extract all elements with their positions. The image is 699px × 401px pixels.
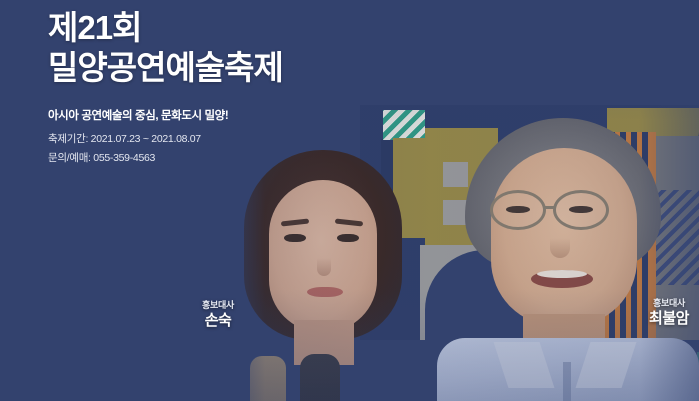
poster-text-block: 제21회 밀양공연예술축제 아시아 공연예술의 중심, 문화도시 밀양! 축제기… [48,8,378,165]
poster-tagline: 아시아 공연예술의 중심, 문화도시 밀양! [48,107,378,123]
portrait-nose [317,246,331,276]
portrait-scarf-fold [250,356,286,401]
ambassador-photo-right [443,118,693,401]
page-title-line-1: 제21회 [48,8,378,48]
green-diagonal-stripes-icon [383,110,425,140]
festival-poster-banner: 제21회 밀양공연예술축제 아시아 공연예술의 중심, 문화도시 밀양! 축제기… [0,0,699,401]
portrait-scarf-dark [300,354,340,401]
portrait-shirt-placket [563,362,571,401]
ambassador-name-label: 손숙 [186,311,250,331]
ambassador-name-label: 최불암 [640,309,698,329]
portrait-teeth [537,270,587,278]
ambassador-photo-left [232,150,414,401]
page-title-line-2: 밀양공연예술축제 [48,48,378,88]
portrait-eye-right [337,234,359,242]
festival-contact-text: 문의/예매: 055-359-4563 [48,150,378,165]
portrait-eye-left [284,234,306,242]
ambassador-caption-left: 홍보대사 손숙 [186,300,250,331]
ambassador-caption-right: 홍보대사 최불암 [640,298,698,329]
eyeglasses-bridge [545,206,555,209]
portrait-nose [550,222,570,258]
festival-period-text: 축제기간: 2021.07.23 ~ 2021.08.07 [48,131,378,146]
ambassador-role-label: 홍보대사 [186,300,250,311]
ambassador-role-label: 홍보대사 [640,298,698,309]
eyeglasses-icon [490,190,546,230]
portrait-mouth [307,287,343,297]
